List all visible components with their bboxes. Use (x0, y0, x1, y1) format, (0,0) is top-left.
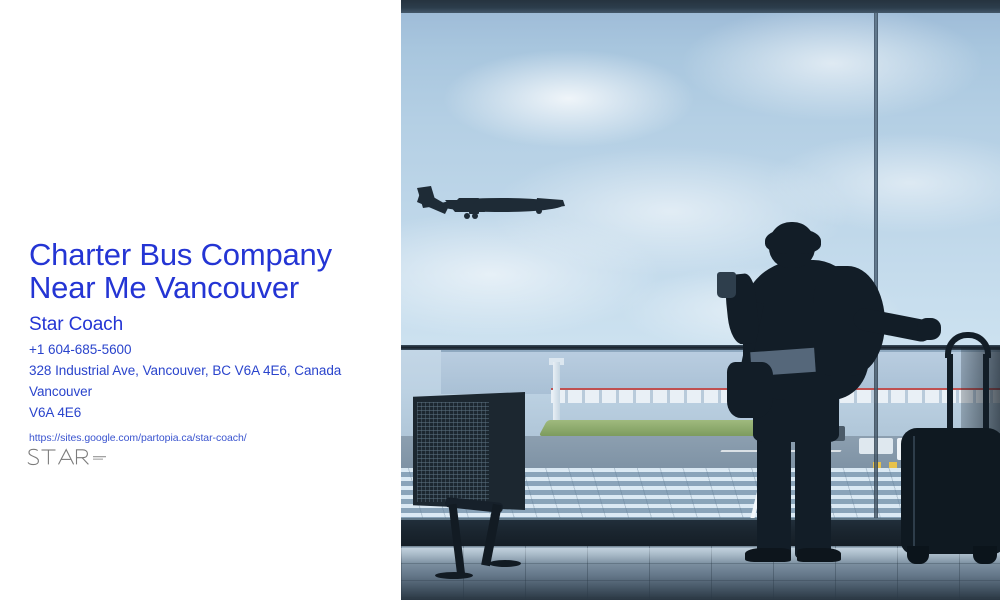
business-info-panel: Charter Bus Company Near Me Vancouver St… (0, 0, 401, 600)
bench-seat (413, 392, 543, 562)
hero-photo (401, 0, 1000, 600)
page-title: Charter Bus Company Near Me Vancouver (29, 238, 389, 304)
star-logo (26, 447, 146, 469)
suitcase-body (901, 428, 1000, 554)
suitcase-handle-pole (947, 354, 953, 434)
phone-number[interactable]: +1 604-685-5600 (29, 339, 389, 360)
bench-foot (489, 560, 521, 567)
person-leg (795, 428, 831, 558)
business-name: Star Coach (29, 314, 389, 336)
suitcase-seam (913, 436, 915, 546)
traveler-silhouette (721, 222, 901, 562)
coffee-cup-icon (717, 272, 736, 298)
rolling-suitcase (897, 332, 1000, 572)
person-hair (765, 228, 821, 254)
bench-leg (481, 504, 502, 567)
street-address: 328 Industrial Ave, Vancouver, BC V6A 4E… (29, 360, 389, 381)
listing-banner: Charter Bus Company Near Me Vancouver St… (0, 0, 1000, 600)
ceiling-band (401, 0, 1000, 13)
person-shoe (797, 548, 841, 562)
shoulder-bag (727, 362, 773, 418)
airplane-icon (415, 176, 575, 224)
suitcase-wheel (973, 546, 997, 564)
suitcase-handle-pole (983, 354, 989, 434)
business-info-block: Charter Bus Company Near Me Vancouver St… (29, 238, 389, 446)
city-name: Vancouver (29, 381, 389, 402)
person-shoe (745, 548, 791, 562)
bench-mesh-texture (417, 402, 489, 502)
suitcase-wheel (907, 546, 929, 564)
control-mast (553, 362, 560, 420)
star-logo-icon (26, 447, 146, 469)
bench-foot (435, 572, 473, 579)
person-leg (757, 428, 791, 558)
website-link[interactable]: https://sites.google.com/partopia.ca/sta… (29, 430, 389, 446)
postal-code: V6A 4E6 (29, 402, 389, 423)
